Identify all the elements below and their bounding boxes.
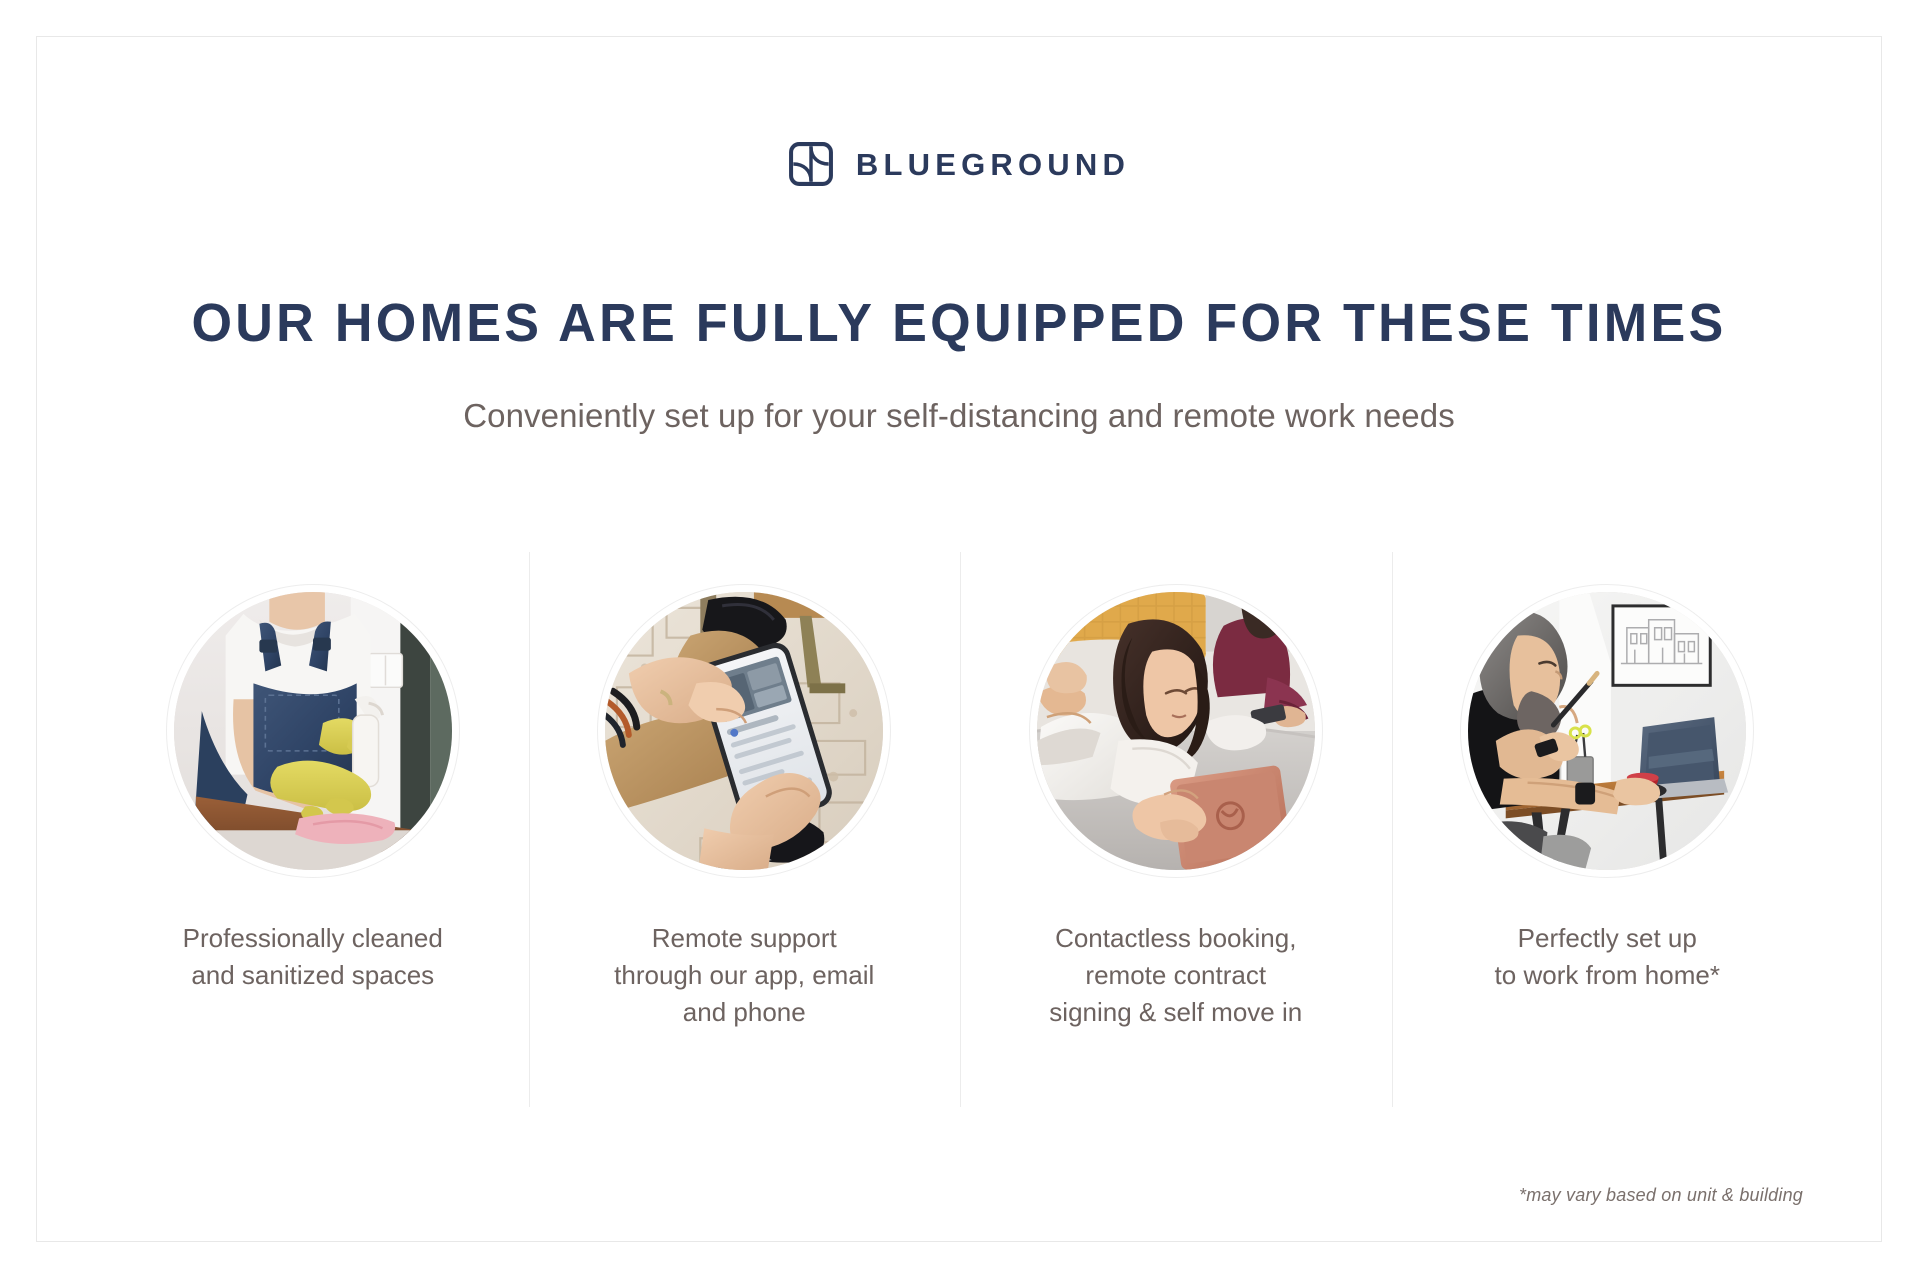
brand-wordmark: BLUEGROUND: [856, 149, 1130, 180]
feature-caption: Perfectly set up to work from home*: [1442, 920, 1772, 994]
footnote-disclaimer: *may vary based on unit & building: [1519, 1185, 1803, 1206]
feature-image-frame: [1460, 584, 1754, 878]
feature-caption: Remote support through our app, email an…: [579, 920, 909, 1031]
page-subtitle: Conveniently set up for your self-distan…: [37, 395, 1881, 436]
photo-remote-support-phone: [605, 592, 883, 870]
brand-lockup: BLUEGROUND: [37, 141, 1881, 187]
poster-frame: BLUEGROUND OUR HOMES ARE FULLY EQUIPPED …: [36, 36, 1882, 1242]
feature-column-contactless-booking: Contactless booking, remote contract sig…: [960, 552, 1392, 1107]
blueground-square-logo-icon: [788, 141, 834, 187]
feature-column-work-from-home: Perfectly set up to work from home*: [1392, 552, 1824, 1107]
photo-work-from-home-desk: [1468, 592, 1746, 870]
feature-image-frame: [597, 584, 891, 878]
feature-caption: Professionally cleaned and sanitized spa…: [148, 920, 478, 994]
photo-contactless-booking-tablet: [1037, 592, 1315, 870]
feature-image-frame: [1029, 584, 1323, 878]
photo-cleaning-sanitized-spaces: [174, 592, 452, 870]
feature-columns: Professionally cleaned and sanitized spa…: [97, 552, 1823, 1107]
feature-column-cleaning: Professionally cleaned and sanitized spa…: [97, 552, 529, 1107]
page-title: OUR HOMES ARE FULLY EQUIPPED FOR THESE T…: [69, 295, 1848, 352]
feature-image-frame: [166, 584, 460, 878]
feature-caption: Contactless booking, remote contract sig…: [1011, 920, 1341, 1031]
feature-column-remote-support: Remote support through our app, email an…: [529, 552, 961, 1107]
poster: BLUEGROUND OUR HOMES ARE FULLY EQUIPPED …: [0, 0, 1920, 1280]
